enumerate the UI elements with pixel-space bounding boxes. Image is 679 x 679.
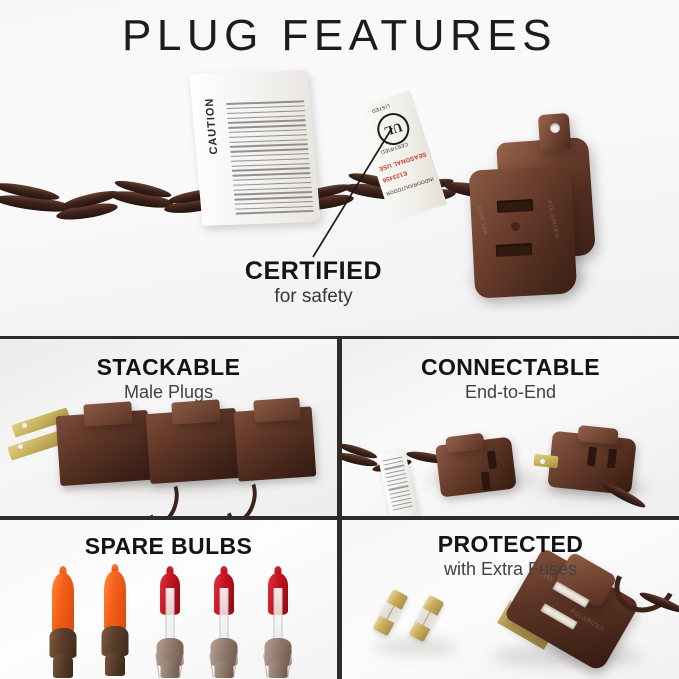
connectable-male-prong [533, 454, 558, 468]
bulb-filament-stem [274, 588, 283, 642]
divider-vertical-lower [337, 516, 342, 679]
fuse-2 [408, 595, 444, 643]
bulb-base-skirt [53, 654, 73, 678]
panel-protected: 125V 10A POLARIZED PROTECTED with Extra … [342, 520, 679, 679]
panel-connectable: CONNECTABLE End-to-End [342, 339, 679, 516]
spare-bulbs-heading-block: SPARE BULBS [0, 534, 337, 558]
panel-stackable: STACKABLE Male Plugs [0, 339, 337, 516]
bulb-base-skirt [215, 661, 234, 678]
certified-headline: CERTIFIED [196, 258, 431, 284]
prong-hole-lower [18, 444, 23, 449]
certified-subline: for safety [196, 285, 431, 309]
fuse-element [421, 609, 432, 628]
bulb-base-skirt [161, 661, 180, 678]
connectable-subheading: End-to-End [342, 381, 679, 404]
prong-hole-upper [22, 423, 27, 428]
protected-heading-block: PROTECTED with Extra Fuses [342, 532, 679, 582]
stackable-heading: STACKABLE [0, 355, 337, 379]
connectable-warning-tag [377, 449, 419, 516]
bulb-filament-stem [166, 588, 175, 642]
red-bulb-2 [209, 566, 239, 678]
certified-callout: CERTIFIED for safety [196, 258, 431, 309]
protected-subheading: with Extra Fuses [342, 558, 679, 581]
stacked-plug-1-top [83, 401, 132, 426]
plug-features-infographic: CAUTION LISTED CERTIFIED SEASONAL USE E1… [0, 0, 679, 679]
orange-bulb-2 [100, 564, 130, 676]
stackable-subheading: Male Plugs [0, 381, 337, 404]
connectable-prong-hole [540, 459, 545, 464]
red-bulb-1 [155, 566, 185, 678]
panel-spare-bulbs: SPARE BULBS [0, 520, 337, 679]
fuse-1 [372, 589, 408, 637]
connectable-heading: CONNECTABLE [342, 355, 679, 379]
bulb-base-skirt [269, 661, 288, 678]
bulb-filament-stem [220, 588, 229, 642]
bulb-glass [52, 573, 74, 635]
stackable-heading-block: STACKABLE Male Plugs [0, 355, 337, 405]
red-bulb-3 [263, 566, 293, 678]
fuse-shadow [372, 640, 458, 654]
page-title: PLUG FEATURES [0, 14, 679, 58]
divider-vertical-upper [337, 336, 342, 519]
fuse-element [385, 603, 396, 622]
hero-panel: CAUTION LISTED CERTIFIED SEASONAL USE E1… [0, 0, 679, 336]
bulb-base-skirt [105, 652, 125, 676]
protected-heading: PROTECTED [342, 532, 679, 556]
spare-bulbs-heading: SPARE BULBS [0, 534, 337, 558]
bulb-glass [104, 571, 126, 633]
orange-bulb-1 [48, 566, 78, 678]
connectable-heading-block: CONNECTABLE End-to-End [342, 355, 679, 405]
